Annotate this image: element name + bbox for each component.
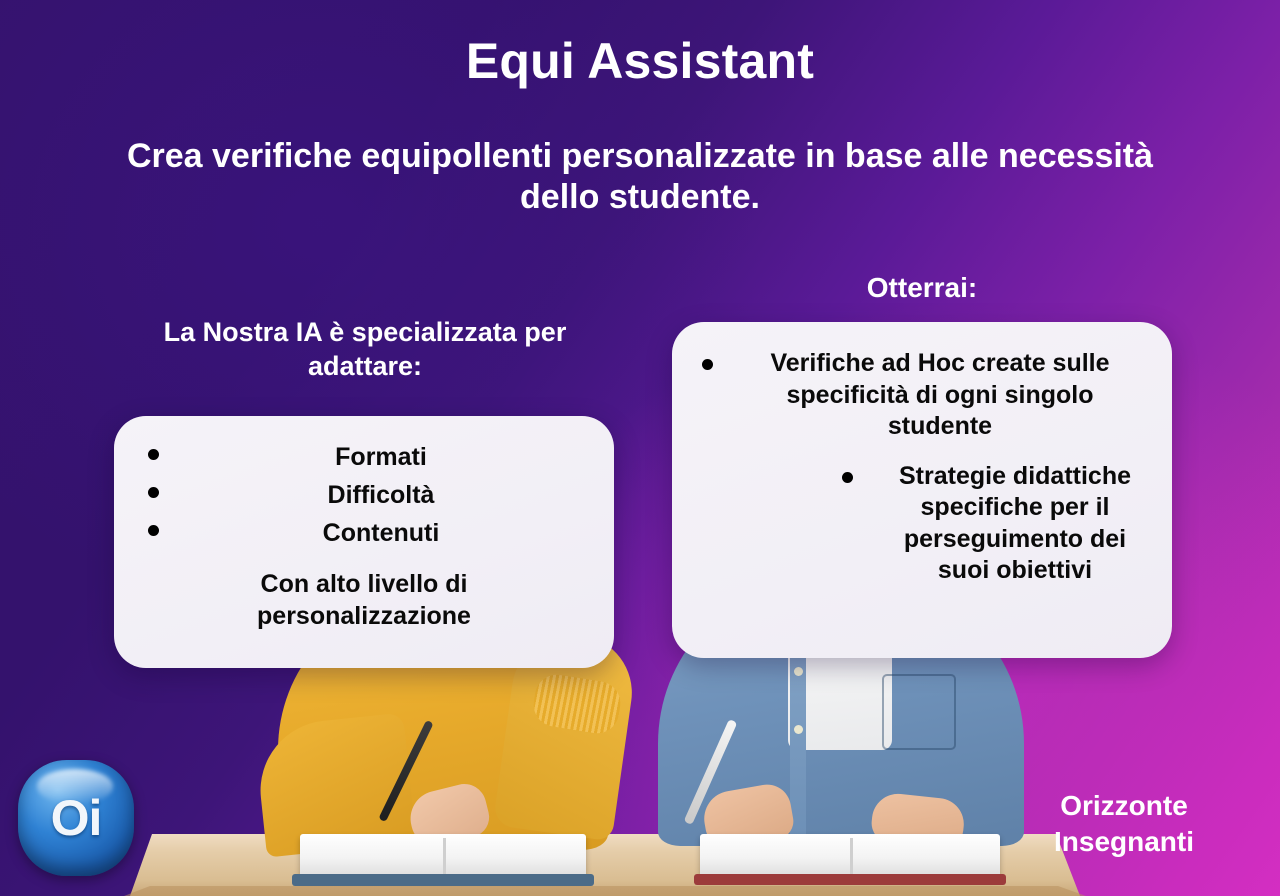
- list-item-label: Verifiche ad Hoc create sulle specificit…: [770, 349, 1109, 440]
- list-item: Strategie didattiche specifiche per il p…: [702, 461, 1138, 587]
- list-item: Verifiche ad Hoc create sulle specificit…: [702, 348, 1138, 443]
- right-card-bullet-list: Verifiche ad Hoc create sulle specificit…: [702, 348, 1138, 587]
- man-pen: [684, 719, 738, 825]
- promo-poster: Equi Assistant Crea verifiche equipollen…: [0, 0, 1280, 896]
- bullet-dot-icon: [148, 449, 159, 460]
- open-book-left: [300, 834, 586, 878]
- man-writing-hand: [700, 781, 796, 851]
- desk-surface: [130, 834, 1080, 896]
- book-spine-left: [443, 838, 446, 874]
- open-book-right: [700, 834, 1000, 878]
- page-subtitle: Crea verifiche equipollenti personalizza…: [120, 136, 1160, 219]
- bullet-dot-icon: [148, 487, 159, 498]
- woman-pen: [378, 720, 433, 822]
- list-item-label: Contenuti: [323, 519, 440, 547]
- woman-writing-hand: [405, 779, 494, 850]
- right-section-heading: Otterrai:: [672, 272, 1172, 304]
- man-shirt-button-top: [794, 667, 803, 676]
- list-item-label: Difficoltà: [328, 481, 435, 509]
- left-section-heading: La Nostra IA è specializzata per adattar…: [110, 315, 620, 383]
- bullet-dot-icon: [148, 525, 159, 536]
- left-card-bullet-list: Formati Difficoltà Contenuti: [148, 438, 580, 552]
- brand-name: Orizzonte Insegnanti: [994, 788, 1254, 860]
- man-shirt-button-bottom: [794, 725, 803, 734]
- logo-text: Oi: [18, 760, 134, 876]
- bullet-dot-icon: [842, 472, 853, 483]
- brand-logo[interactable]: Oi: [18, 760, 134, 876]
- benefits-card-right: Verifiche ad Hoc create sulle specificit…: [672, 322, 1172, 658]
- list-item-label: Formati: [335, 443, 427, 471]
- list-item-label: Strategie didattiche specifiche per il p…: [899, 462, 1131, 585]
- book-spine-right: [850, 838, 853, 874]
- woman-left-arm: [254, 713, 417, 858]
- woman-sleeve-cuff: [530, 672, 623, 737]
- man-chest-pocket: [882, 674, 956, 750]
- bullet-dot-icon: [702, 359, 713, 370]
- list-item: Formati: [148, 438, 580, 476]
- desk-edge: [124, 886, 1086, 896]
- page-title: Equi Assistant: [0, 32, 1280, 90]
- list-item: Difficoltà: [148, 476, 580, 514]
- features-card-left: Formati Difficoltà Contenuti Con alto li…: [114, 416, 614, 668]
- left-card-note: Con alto livello di personalizzazione: [148, 568, 580, 632]
- list-item: Contenuti: [148, 514, 580, 552]
- man-resting-hand: [870, 791, 967, 850]
